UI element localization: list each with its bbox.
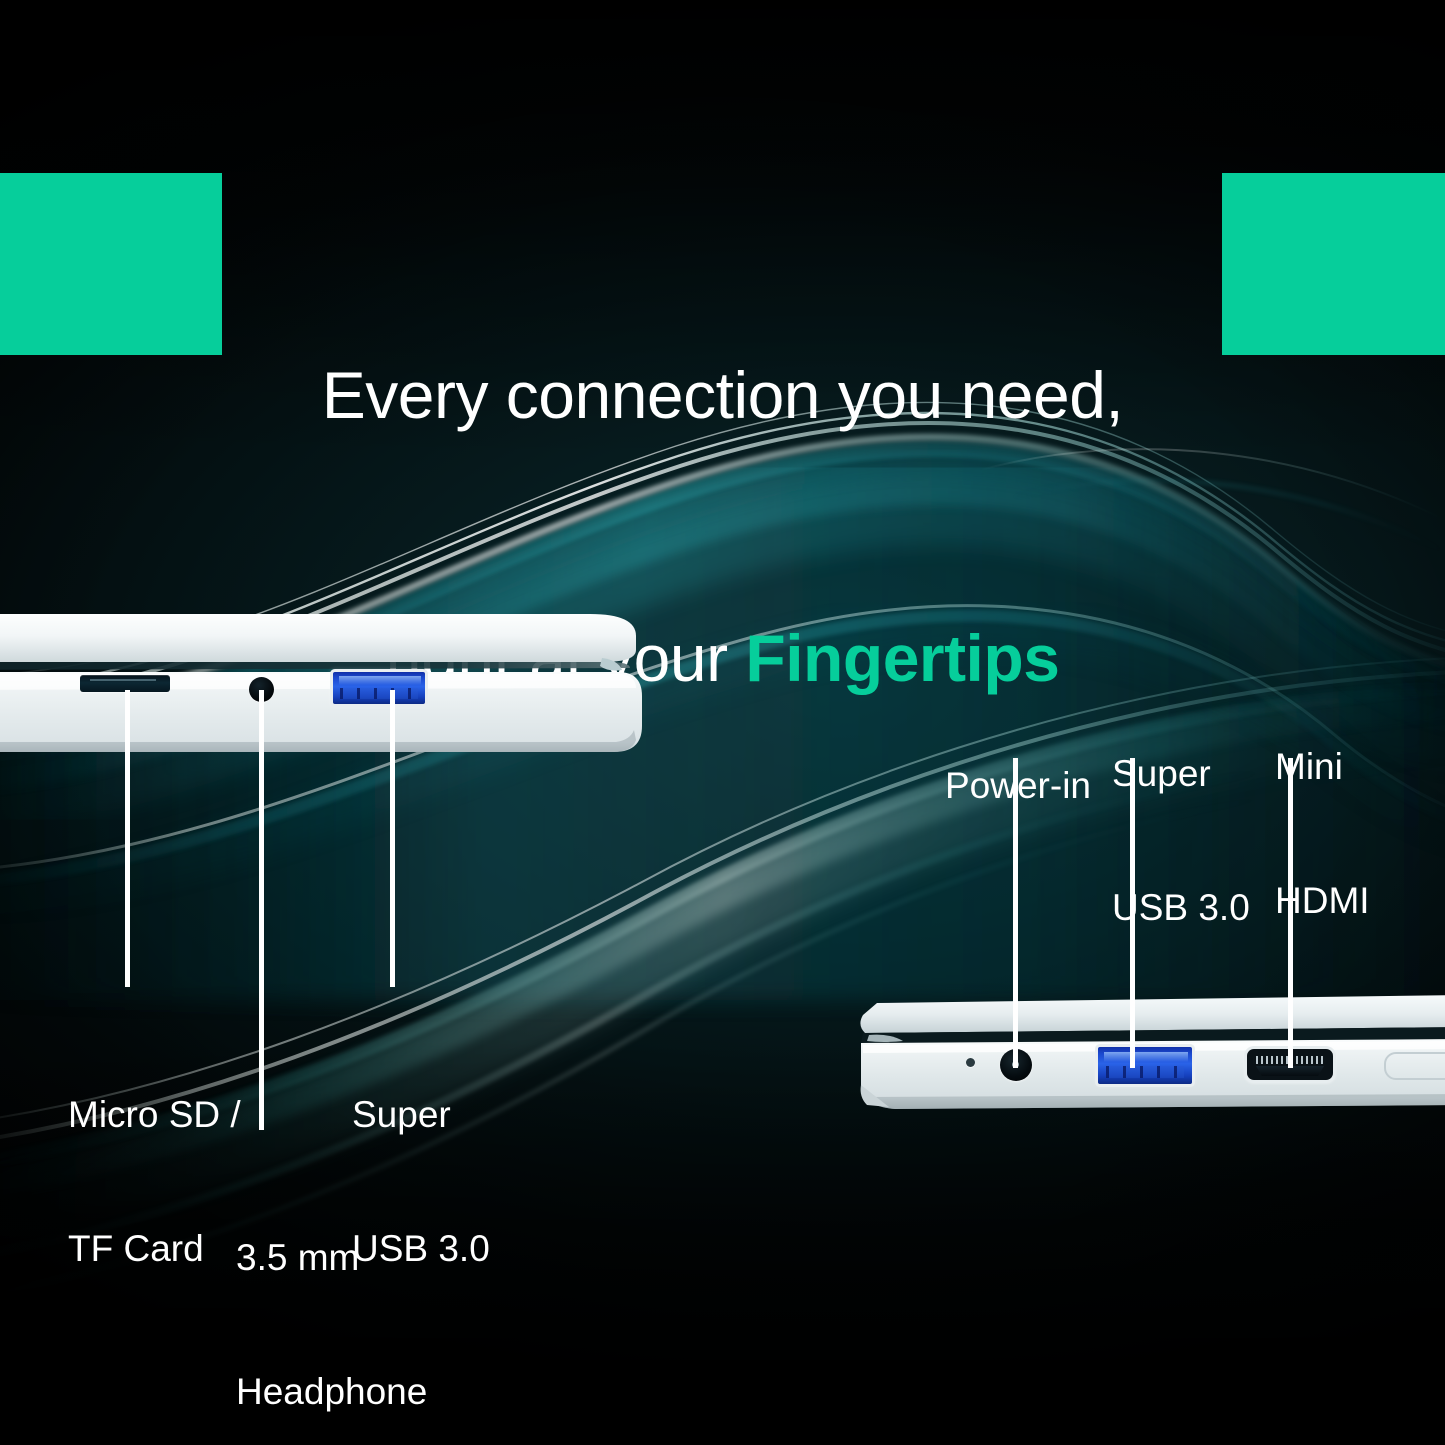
leader-line-headphone-jack [259,690,264,1130]
label-usb-3-right-line-2: USB 3.0 [1112,886,1250,931]
leader-line-micro-sd [125,690,130,987]
label-usb-3-left-line-1: Super [352,1093,490,1138]
usb-port-icon [333,672,425,704]
label-usb-3-left-line-2: USB 3.0 [352,1227,490,1272]
label-mini-hdmi: Mini HDMI [1275,655,1370,1013]
leader-line-usb-3-left [390,690,395,987]
usb-port-icon [1098,1047,1192,1084]
label-micro-sd: Micro SD / TF Card [68,1003,241,1361]
label-usb-3-left: Super USB 3.0 [352,1003,490,1361]
laptop-left-side-profile [0,600,650,780]
label-mini-hdmi-line-1: Mini [1275,745,1370,790]
status-pinhole-icon [966,1058,975,1067]
label-headphone-jack-line-2: Headphone [236,1370,427,1415]
product-feature-banner: Every connection you need, right at your… [0,0,1445,1445]
label-micro-sd-line-1: Micro SD / [68,1093,241,1138]
label-mini-hdmi-line-2: HDMI [1275,879,1370,924]
microsd-slot-inner-line [90,679,156,681]
label-micro-sd-line-2: TF Card [68,1227,241,1272]
label-power-in: Power-in [945,674,1091,898]
label-power-in-line-1: Power-in [945,764,1091,809]
headline-line-1: Every connection you need, [0,352,1445,440]
label-usb-3-right: Super USB 3.0 [1112,662,1250,1020]
label-usb-3-right-line-1: Super [1112,752,1250,797]
